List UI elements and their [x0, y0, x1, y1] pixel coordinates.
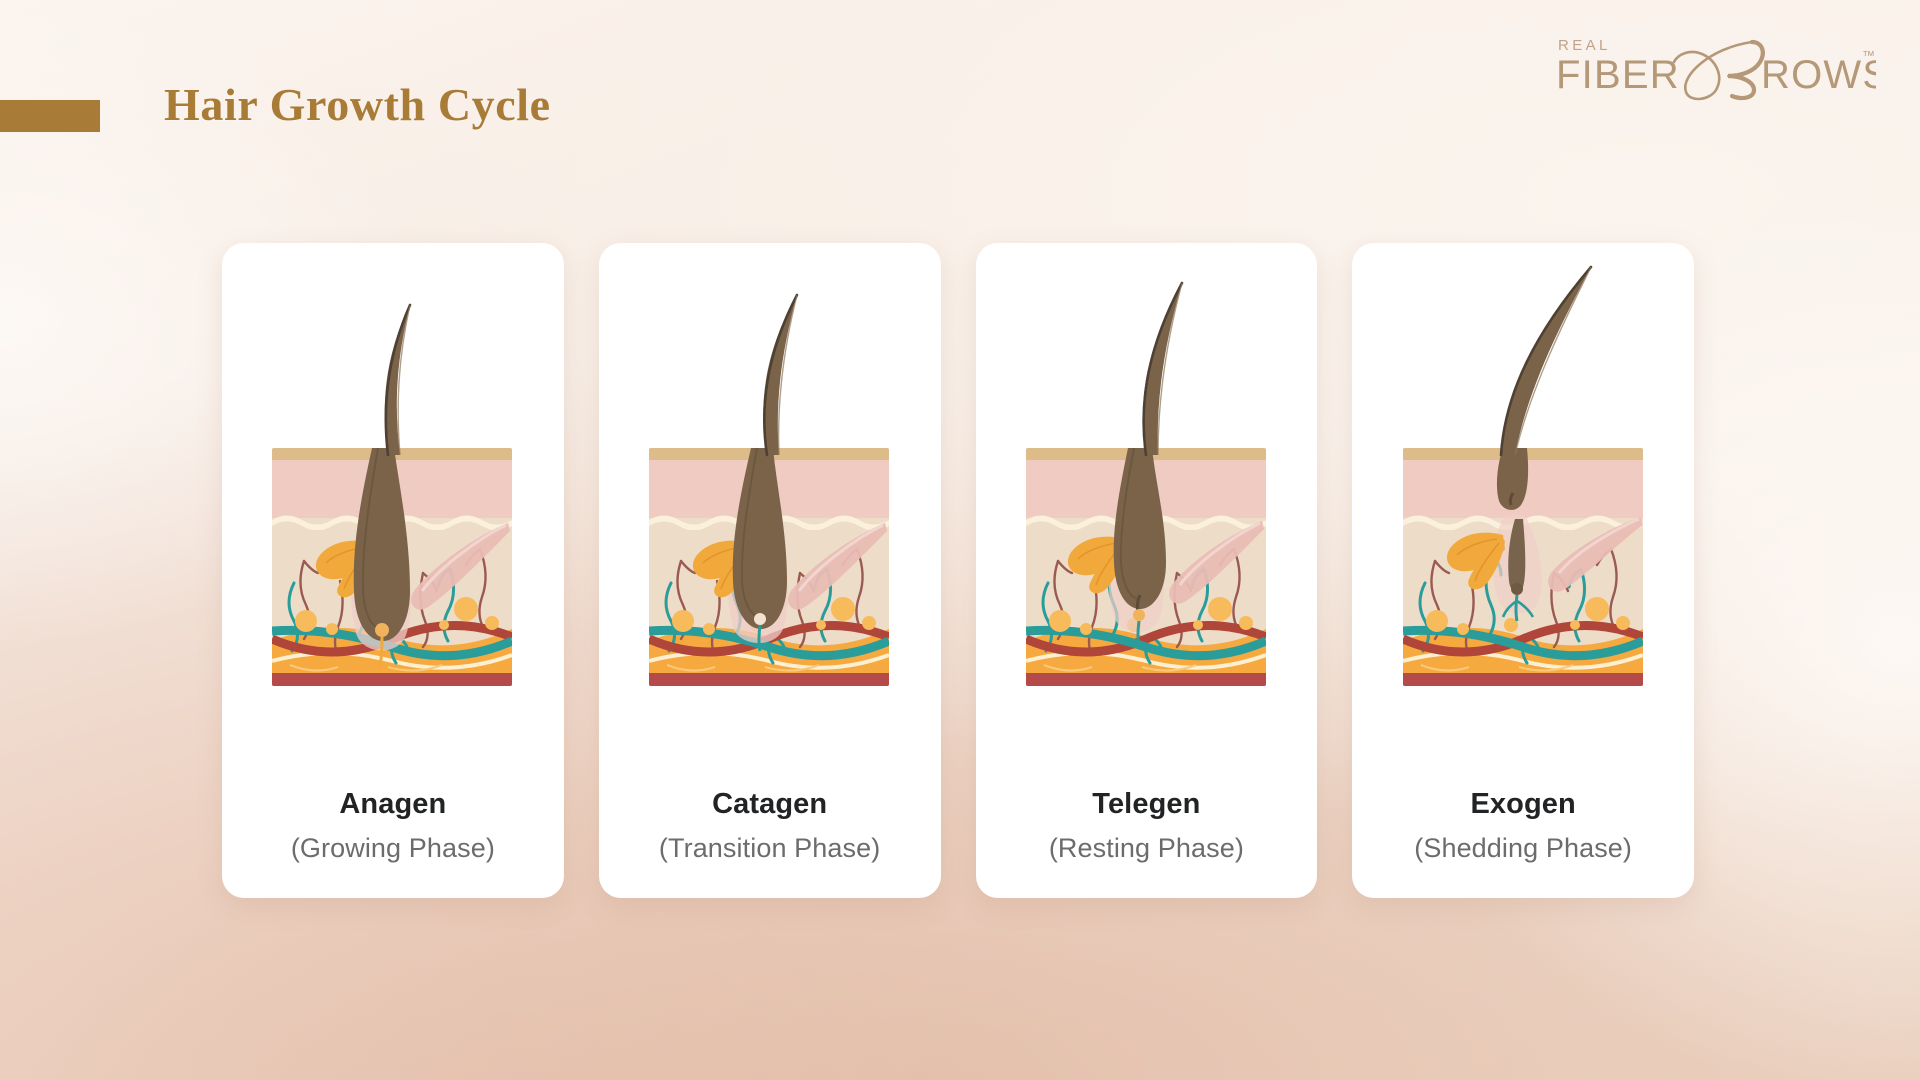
logo-brows-text: ROWS	[1761, 53, 1876, 97]
hair-shaft-telegen	[1143, 283, 1182, 455]
skin-cross-section-illustration-telegen	[976, 243, 1318, 788]
phase-card-exogen[interactable]: Exogen (Shedding Phase)	[1352, 243, 1694, 898]
phase-title: Catagen	[712, 790, 827, 819]
logo-script-b	[1674, 42, 1763, 99]
brand-logo: REAL FIBER ROWS ™	[1556, 26, 1876, 102]
phase-card-telegen[interactable]: Telegen (Resting Phase)	[976, 243, 1318, 898]
skin-cross-section-illustration-anagen	[222, 243, 564, 788]
logo-fiber-text: FIBER	[1556, 53, 1680, 97]
hair-shaft-catagen	[763, 295, 797, 455]
logo-real-text: REAL	[1558, 37, 1611, 54]
logo-trademark: ™	[1862, 48, 1875, 63]
phase-title: Exogen	[1470, 790, 1575, 819]
skin-layers-catagen	[649, 448, 889, 686]
phase-card-row: Anagen (Growing Phase)	[222, 243, 1694, 898]
phase-title: Anagen	[339, 790, 446, 819]
hair-shaft-exogen	[1501, 267, 1591, 455]
title-accent-bar	[0, 100, 100, 132]
phase-subtitle: (Transition Phase)	[659, 835, 880, 862]
hair-shaft-anagen	[385, 305, 410, 455]
phase-card-catagen[interactable]: Catagen (Transition Phase)	[599, 243, 941, 898]
phase-subtitle: (Shedding Phase)	[1414, 835, 1632, 862]
skin-layers-anagen	[272, 448, 512, 686]
skin-layers-exogen	[1403, 448, 1643, 686]
phase-title: Telegen	[1092, 790, 1200, 819]
skin-cross-section-illustration-catagen	[599, 243, 941, 788]
skin-layers-telegen	[1026, 448, 1266, 686]
phase-card-anagen[interactable]: Anagen (Growing Phase)	[222, 243, 564, 898]
phase-subtitle: (Resting Phase)	[1049, 835, 1244, 862]
page-title: Hair Growth Cycle	[164, 78, 551, 131]
phase-subtitle: (Growing Phase)	[291, 835, 495, 862]
skin-cross-section-illustration-exogen	[1352, 243, 1694, 788]
